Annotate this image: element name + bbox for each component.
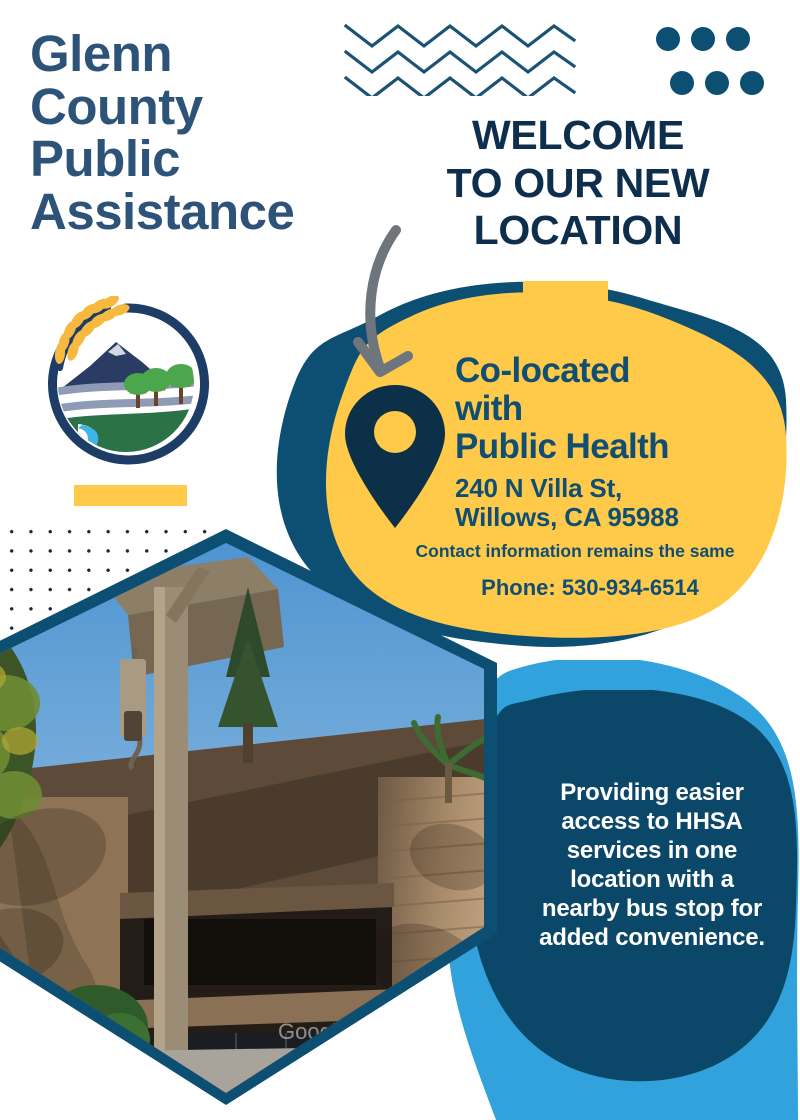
- org-title-line-3: Public: [30, 133, 380, 186]
- welcome-accent-bar: [523, 281, 608, 302]
- curved-arrow-icon: [350, 222, 460, 402]
- colocated-line-3: Public Health: [455, 428, 785, 466]
- page-title: Glenn County Public Assistance: [30, 28, 380, 238]
- dot-cluster-icon: [655, 26, 765, 98]
- phone-number: Phone: 530-934-6514: [395, 575, 785, 601]
- left-accent-bar: [74, 485, 187, 506]
- welcome-line-2: TO OUR NEW: [398, 160, 758, 208]
- org-title-line-4: Assistance: [30, 186, 380, 239]
- flyer-canvas: Glenn County Public Assistance WELCOME T…: [0, 0, 800, 1120]
- zigzag-lines-icon: [344, 22, 576, 96]
- org-title-line-1: Glenn: [30, 28, 380, 81]
- glenn-county-seal-logo: [38, 296, 220, 468]
- address-line-1: 240 N Villa St,: [455, 474, 785, 503]
- org-title-line-2: County: [30, 81, 380, 134]
- colocated-headline: Co-located with Public Health: [455, 352, 785, 465]
- benefit-statement: Providing easier access to HHSA services…: [538, 778, 766, 952]
- colocated-line-1: Co-located: [455, 352, 785, 390]
- new-location-building-photo: Google: [0, 527, 504, 1107]
- address-line-2: Willows, CA 95988: [455, 503, 785, 532]
- colocated-line-2: with: [455, 390, 785, 428]
- map-pin-icon: [339, 384, 451, 529]
- address-block: 240 N Villa St, Willows, CA 95988: [455, 474, 785, 531]
- location-info-card: Co-located with Public Health 240 N Vill…: [455, 352, 785, 601]
- contact-note: Contact information remains the same: [365, 541, 785, 562]
- welcome-line-1: WELCOME: [398, 112, 758, 160]
